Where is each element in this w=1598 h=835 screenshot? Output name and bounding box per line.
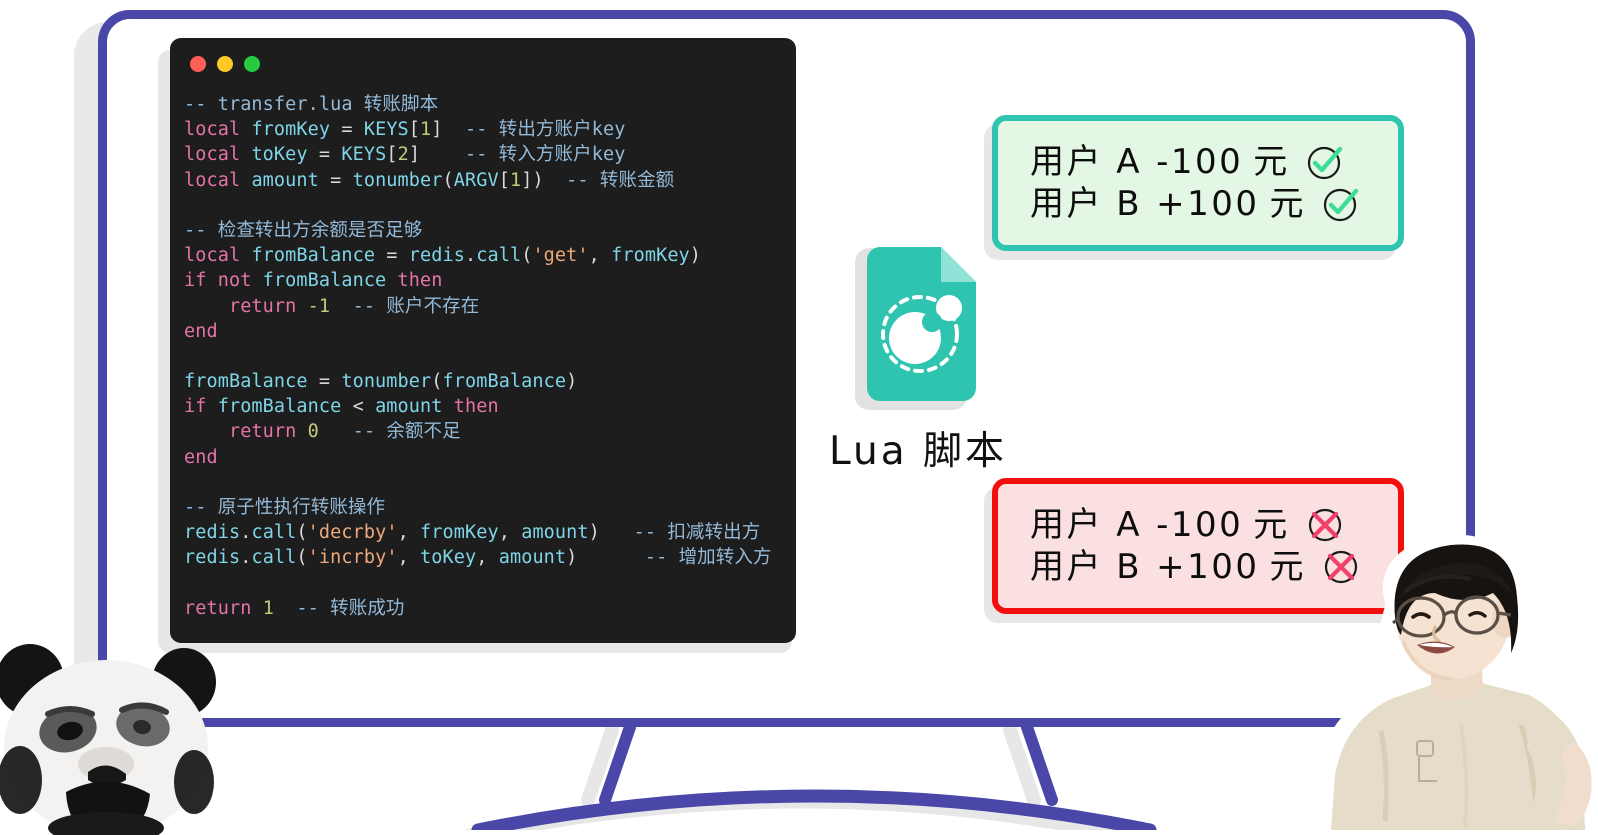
success-row-a: 用户 A -100 元 [1030,141,1398,183]
code-token: redis [184,547,240,568]
code-token: -- 余额不足 [319,421,461,442]
code-token: . [240,522,251,543]
code-token: = [386,245,408,266]
code-token [184,421,229,442]
success-row-a-unit: 元 [1253,141,1290,183]
code-token: return [184,598,251,619]
panda-meme-image [0,630,226,835]
code-token: [ [499,170,510,191]
code-token: -- 扣减转出方 [600,522,760,543]
close-dot[interactable] [190,56,206,72]
code-token: , [499,522,521,543]
failure-row-b-amount: +100 [1156,546,1259,588]
failure-row-b-user: 用户 B [1030,546,1142,588]
code-line: local amount = tonumber(ARGV[1]) -- 转账金额 [184,168,796,193]
check-circle-icon [1322,185,1360,223]
code-token: fromBalance [443,371,567,392]
code-token: fromBalance [206,396,352,417]
code-token: then [454,396,499,417]
code-token: then [398,270,443,291]
code-token: ) [566,547,577,568]
code-token: ARGV [454,170,499,191]
code-token: = [319,144,341,165]
code-line: return 1 -- 转账成功 [184,596,796,621]
zoom-dot[interactable] [244,56,260,72]
success-row-a-amount: -100 [1156,141,1243,183]
code-token: . [240,547,251,568]
code-token: amount [240,170,330,191]
code-token: ] [431,119,442,140]
code-token: redis [184,522,240,543]
success-row-a-user: 用户 A [1030,141,1142,183]
code-token: = [319,371,341,392]
code-token: fromKey [240,119,341,140]
code-token: if not [184,270,251,291]
code-token: local [184,119,240,140]
code-token: ( [431,371,442,392]
presenter-photo [1285,535,1598,830]
code-token: , [589,245,611,266]
code-token: , [398,547,420,568]
code-token: = [341,119,363,140]
code-token: -- 转账成功 [274,598,405,619]
code-token: fromBalance [184,371,319,392]
code-token: amount [375,396,454,417]
code-token: call [251,547,296,568]
code-token: amount [521,522,588,543]
code-token [184,296,229,317]
code-line: return 0 -- 余额不足 [184,419,796,444]
code-line: if not fromBalance then [184,268,796,293]
code-token: 1 [420,119,431,140]
code-token: ] [409,144,420,165]
code-line [184,193,796,218]
code-token: 'get' [532,245,588,266]
code-token: -- 转入方账户key [420,144,625,165]
success-row-b: 用户 B +100 元 [1030,183,1398,225]
code-token [251,598,262,619]
code-token: -- 增加转入方 [577,547,771,568]
code-token: amount [499,547,566,568]
lua-source-code[interactable]: -- transfer.lua 转账脚本local fromKey = KEYS… [170,90,796,621]
code-token: 'incrby' [308,547,398,568]
code-line: fromBalance = tonumber(fromBalance) [184,369,796,394]
code-token: -- 原子性执行转账操作 [184,497,385,518]
code-token: ( [521,245,532,266]
code-token: = [330,170,352,191]
code-token: return [229,296,296,317]
code-line: local toKey = KEYS[2] -- 转入方账户key [184,142,796,167]
code-line [184,571,796,596]
code-line: local fromBalance = redis.call('get', fr… [184,243,796,268]
code-token: KEYS [341,144,386,165]
code-line: end [184,445,796,470]
code-token: return [229,421,296,442]
code-token: ( [296,522,307,543]
check-circle-icon [1306,143,1344,181]
code-token: end [184,447,218,468]
code-token: -- 检查转出方余额是否足够 [184,220,422,241]
code-token: ) [589,522,600,543]
code-token: ( [443,170,454,191]
code-token: . [465,245,476,266]
code-token: ) [566,371,577,392]
code-token: ]) [521,170,543,191]
code-token: ) [690,245,701,266]
code-line: if fromBalance < amount then [184,394,796,419]
code-token: -- 转账金额 [544,170,675,191]
success-row-b-unit: 元 [1270,183,1307,225]
code-token: < [353,396,375,417]
code-token: redis [409,245,465,266]
code-token: call [251,522,296,543]
success-row-b-amount: +100 [1156,183,1259,225]
code-token: 0 [308,421,319,442]
code-token: tonumber [341,371,431,392]
code-token: [ [386,144,397,165]
code-token: end [184,321,218,342]
code-line: -- 原子性执行转账操作 [184,495,796,520]
code-line: redis.call('incrby', toKey, amount) -- 增… [184,545,796,570]
code-token: [ [409,119,420,140]
code-token: local [184,170,240,191]
code-token: -- 账户不存在 [330,296,479,317]
code-line: local fromKey = KEYS[1] -- 转出方账户key [184,117,796,142]
failure-row-a-amount: -100 [1156,504,1243,546]
code-token: 'decrby' [308,522,398,543]
code-token: tonumber [353,170,443,191]
code-line: redis.call('decrby', fromKey, amount) --… [184,520,796,545]
success-row-b-user: 用户 B [1030,183,1142,225]
failure-row-a-user: 用户 A [1030,504,1142,546]
code-token: fromKey [420,522,499,543]
code-token: if [184,396,206,417]
code-token: -- 转出方账户key [443,119,626,140]
code-token: fromBalance [240,245,386,266]
lua-script-block: Lua 脚本 [818,246,1018,476]
code-token: 1 [510,170,521,191]
lua-file-icon [853,246,983,414]
code-token: 2 [398,144,409,165]
code-line: -- 检查转出方余额是否足够 [184,218,796,243]
code-token: fromBalance [251,270,397,291]
code-window-titlebar[interactable] [170,38,796,90]
code-line: -- transfer.lua 转账脚本 [184,92,796,117]
code-token: toKey [240,144,319,165]
code-line [184,470,796,495]
code-token: -- transfer.lua 转账脚本 [184,94,438,115]
code-token: ( [296,547,307,568]
code-token [296,296,307,317]
code-token: call [476,245,521,266]
code-token: toKey [420,547,476,568]
code-editor-window[interactable]: -- transfer.lua 转账脚本local fromKey = KEYS… [170,38,796,643]
code-token: local [184,144,240,165]
code-line: return -1 -- 账户不存在 [184,294,796,319]
code-token: local [184,245,240,266]
minimize-dot[interactable] [217,56,233,72]
code-token [296,421,307,442]
code-line: end [184,319,796,344]
success-result-card: 用户 A -100 元 用户 B +100 元 [992,115,1404,251]
code-token: , [476,547,498,568]
code-line [184,344,796,369]
code-token: , [398,522,420,543]
lua-script-label: Lua 脚本 [818,420,1018,476]
code-token: fromKey [611,245,690,266]
code-token: 1 [263,598,274,619]
code-token: -1 [308,296,330,317]
code-token: KEYS [364,119,409,140]
